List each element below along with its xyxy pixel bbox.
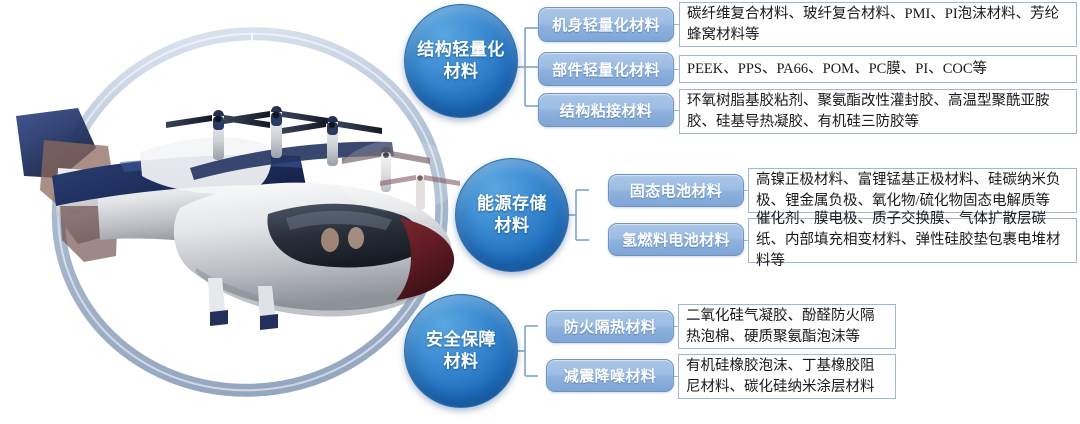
desc-text: 高镍正极材料、富锂锰基正极材料、硅碳纳米负极、锂金属负极、氧化物/硫化物固态电解… [756, 170, 1069, 212]
sub-box-structural-adhesive[interactable]: 结构粘接材料 [538, 93, 674, 127]
desc-text: 有机硅橡胶泡沫、丁基橡胶阻尼材料、碳化硅纳米涂层材料 [686, 356, 888, 398]
desc-text: 碳纤维复合材料、玻纤复合材料、PMI、PI泡沫材料、芳纶蜂窝材料等 [687, 4, 1069, 46]
sub-box-label: 结构粘接材料 [560, 100, 652, 121]
desc-box-hydrogen-fuel-cell: 催化剂、膜电极、质子交换膜、气体扩散层碳纸、内部填充相变材料、弹性硅胶垫包裹电堆… [748, 218, 1077, 263]
sub-box-label: 固态电池材料 [630, 180, 722, 201]
evtol-aircraft-image [0, 0, 470, 424]
sub-box-label: 减震降噪材料 [564, 365, 656, 386]
node-label-line2: 材料 [495, 216, 530, 235]
sub-box-component-lightweight[interactable]: 部件轻量化材料 [538, 52, 674, 86]
node-energy-storage[interactable]: 能源存储 材料 [455, 158, 569, 272]
sub-box-label: 机身轻量化材料 [552, 14, 660, 35]
sub-box-label: 防火隔热材料 [564, 316, 656, 337]
sub-box-label: 氢燃料电池材料 [622, 229, 730, 250]
node-safety-assurance-label: 安全保障 材料 [420, 329, 502, 373]
sub-box-solid-state-battery[interactable]: 固态电池材料 [608, 174, 744, 207]
node-label-line1: 安全保障 [426, 330, 496, 349]
desc-box-fireproof-insulation: 二氧化硅气凝胶、酚醛防火隔热泡棉、硬质聚氨酯泡沫等 [678, 304, 896, 349]
desc-box-structural-adhesive: 环氧树脂基胶粘剂、聚氨酯改性灌封胶、高温型聚酰亚胺胶、硅基导热凝胶、有机硅三防胶… [679, 89, 1077, 134]
node-label-line1: 能源存储 [477, 194, 547, 213]
sub-box-vibration-noise-reduction[interactable]: 减震降噪材料 [546, 359, 674, 392]
desc-box-airframe-lightweight: 碳纤维复合材料、玻纤复合材料、PMI、PI泡沫材料、芳纶蜂窝材料等 [679, 2, 1077, 47]
node-safety-assurance[interactable]: 安全保障 材料 [404, 294, 518, 408]
node-structural-lightweight-label: 结构轻量化 材料 [411, 39, 511, 83]
desc-text: 二氧化硅气凝胶、酚醛防火隔热泡棉、硬质聚氨酯泡沫等 [686, 306, 888, 348]
desc-box-vibration-noise-reduction: 有机硅橡胶泡沫、丁基橡胶阻尼材料、碳化硅纳米涂层材料 [678, 354, 896, 399]
node-label-line1: 结构轻量化 [417, 40, 505, 59]
sub-box-label: 部件轻量化材料 [552, 59, 660, 80]
node-energy-storage-label: 能源存储 材料 [471, 193, 553, 237]
node-label-line2: 材料 [444, 62, 479, 81]
node-structural-lightweight[interactable]: 结构轻量化 材料 [404, 4, 518, 118]
sub-box-hydrogen-fuel-cell[interactable]: 氢燃料电池材料 [608, 223, 744, 256]
diagram-canvas: 结构轻量化 材料 机身轻量化材料 碳纤维复合材料、玻纤复合材料、PMI、PI泡沫… [0, 0, 1080, 424]
node-label-line2: 材料 [444, 352, 479, 371]
desc-box-solid-state-battery: 高镍正极材料、富锂锰基正极材料、硅碳纳米负极、锂金属负极、氧化物/硫化物固态电解… [748, 168, 1077, 213]
desc-text: PEEK、PPS、PA66、POM、PC膜、PI、COC等 [687, 59, 987, 80]
illustration-area [0, 0, 470, 424]
sub-box-fireproof-insulation[interactable]: 防火隔热材料 [546, 310, 674, 343]
desc-box-component-lightweight: PEEK、PPS、PA66、POM、PC膜、PI、COC等 [679, 55, 1077, 83]
desc-text: 催化剂、膜电极、质子交换膜、气体扩散层碳纸、内部填充相变材料、弹性硅胶垫包裹电堆… [756, 209, 1069, 272]
sub-box-airframe-lightweight[interactable]: 机身轻量化材料 [538, 7, 674, 42]
desc-text: 环氧树脂基胶粘剂、聚氨酯改性灌封胶、高温型聚酰亚胺胶、硅基导热凝胶、有机硅三防胶… [687, 91, 1069, 133]
